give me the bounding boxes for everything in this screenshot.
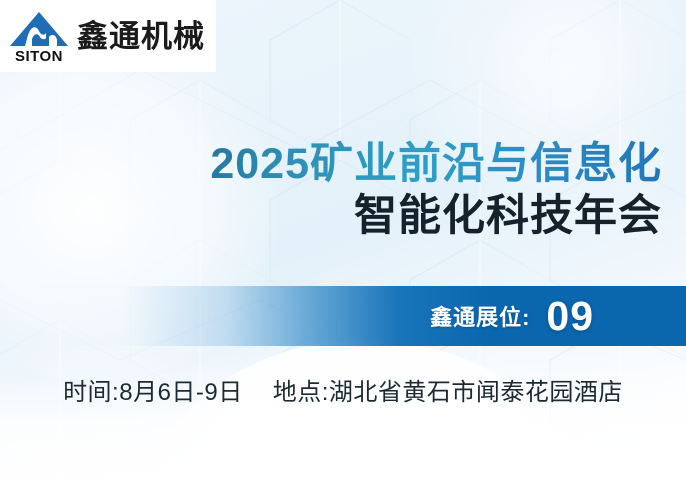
event-date: 时间:8月6日-9日 xyxy=(63,372,243,407)
background-glow-bottom xyxy=(150,340,580,500)
brand-logo: SITON 鑫通机械 xyxy=(0,0,216,72)
event-info-row: 时间:8月6日-9日 地点:湖北省黄石市闻泰花园酒店 xyxy=(0,372,686,407)
hexagon-pattern-icon xyxy=(0,0,686,500)
siton-mountain-logo-icon: SITON xyxy=(8,9,70,63)
headline-line-1: 2025矿业前沿与信息化 xyxy=(22,140,662,188)
headline-line-2: 智能化科技年会 xyxy=(22,192,662,240)
booth-banner: 鑫通展位: 09 xyxy=(0,286,686,346)
event-poster: SITON 鑫通机械 2025矿业前沿与信息化 智能化科技年会 鑫通展位: 09… xyxy=(0,0,686,500)
booth-number: 09 xyxy=(546,296,594,337)
logo-chinese-text: 鑫通机械 xyxy=(77,21,205,52)
background-bottom-fade xyxy=(0,340,686,500)
background-decoration xyxy=(0,0,686,500)
headline-block: 2025矿业前沿与信息化 智能化科技年会 xyxy=(22,140,662,240)
booth-label: 鑫通展位: xyxy=(430,300,530,332)
event-location: 地点:湖北省黄石市闻泰花园酒店 xyxy=(273,372,623,407)
logo-latin-text: SITON xyxy=(15,48,63,63)
